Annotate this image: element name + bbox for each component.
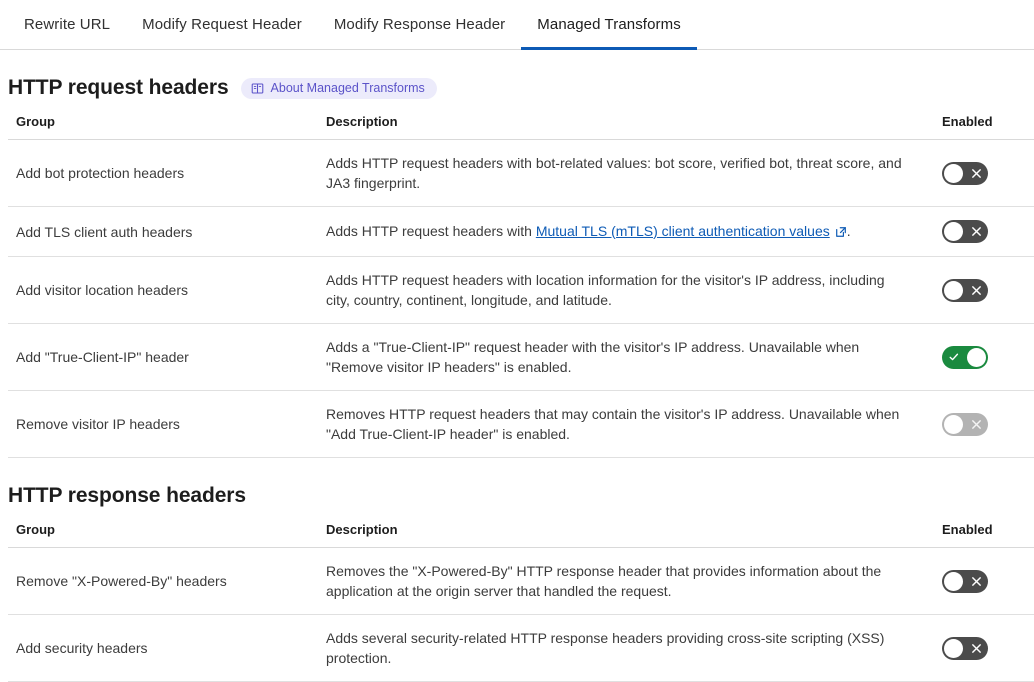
close-icon <box>971 220 982 243</box>
row-enabled-cell <box>930 207 1034 257</box>
toggle-remove-x-powered-by-headers[interactable] <box>942 570 988 593</box>
external-link-icon[interactable] <box>835 223 847 243</box>
tab-label: Modify Response Header <box>334 16 505 33</box>
tab-bar: Rewrite URL Modify Request Header Modify… <box>0 0 1034 50</box>
row-group-label: Remove visitor IP headers <box>8 391 326 458</box>
row-description-text: Removes HTTP request headers that may co… <box>326 404 910 444</box>
row-description: Removes the "X-Powered-By" HTTP response… <box>326 548 930 615</box>
book-icon <box>251 82 264 95</box>
row-description-text: Adds HTTP request headers with location … <box>326 270 910 310</box>
table-row: Add visitor location headers Adds HTTP r… <box>8 257 1034 324</box>
check-icon <box>948 346 960 369</box>
row-description: Adds a "True-Client-IP" request header w… <box>326 324 930 391</box>
tab-label: Rewrite URL <box>24 16 110 33</box>
close-icon <box>971 279 982 302</box>
response-section-title: HTTP response headers <box>8 484 246 508</box>
toggle-knob <box>944 572 963 591</box>
request-headers-table: Group Description Enabled Add bot protec… <box>8 114 1034 458</box>
toggle-knob <box>967 348 986 367</box>
toggle-add-tls-client-auth-headers[interactable] <box>942 220 988 243</box>
toggle-add-bot-protection-headers[interactable] <box>942 162 988 185</box>
close-icon <box>971 570 982 593</box>
row-description: Adds HTTP request headers with Mutual TL… <box>326 207 930 257</box>
page-title: HTTP request headers <box>8 76 229 100</box>
row-description-text: Adds HTTP request headers with Mutual TL… <box>326 221 910 243</box>
row-description-text: Adds HTTP request headers with bot-relat… <box>326 153 910 193</box>
toggle-add-visitor-location-headers[interactable] <box>942 279 988 302</box>
link-label: Mutual TLS (mTLS) client authentication … <box>536 223 830 239</box>
toggle-knob <box>944 222 963 241</box>
column-header-group: Group <box>8 522 326 548</box>
row-enabled-cell <box>930 615 1034 682</box>
table-header-row: Group Description Enabled <box>8 522 1034 548</box>
table-header-row: Group Description Enabled <box>8 114 1034 140</box>
row-enabled-cell <box>930 324 1034 391</box>
tab-rewrite-url[interactable]: Rewrite URL <box>8 0 126 49</box>
table-row: Add bot protection headers Adds HTTP req… <box>8 140 1034 207</box>
row-description-text: Removes the "X-Powered-By" HTTP response… <box>326 561 910 601</box>
close-icon <box>971 413 982 436</box>
row-group-label: Add visitor location headers <box>8 257 326 324</box>
toggle-knob <box>944 415 963 434</box>
row-group-label: Remove "X-Powered-By" headers <box>8 548 326 615</box>
response-headers-table: Group Description Enabled Remove "X-Powe… <box>8 522 1034 682</box>
column-header-description: Description <box>326 522 930 548</box>
close-icon <box>971 162 982 185</box>
column-header-description: Description <box>326 114 930 140</box>
about-managed-transforms-chip[interactable]: About Managed Transforms <box>241 78 437 99</box>
table-row: Add "True-Client-IP" header Adds a "True… <box>8 324 1034 391</box>
response-section-header: HTTP response headers <box>8 484 1026 508</box>
row-group-label: Add security headers <box>8 615 326 682</box>
request-section-header: HTTP request headers About Managed Trans… <box>8 76 1026 100</box>
row-group-label: Add TLS client auth headers <box>8 207 326 257</box>
toggle-knob <box>944 639 963 658</box>
table-row: Add security headers Adds several securi… <box>8 615 1034 682</box>
row-enabled-cell <box>930 391 1034 458</box>
description-suffix: . <box>847 223 851 239</box>
row-description: Adds HTTP request headers with bot-relat… <box>326 140 930 207</box>
table-row: Remove "X-Powered-By" headers Removes th… <box>8 548 1034 615</box>
row-enabled-cell <box>930 257 1034 324</box>
table-row: Remove visitor IP headers Removes HTTP r… <box>8 391 1034 458</box>
row-description: Adds HTTP request headers with location … <box>326 257 930 324</box>
toggle-add-security-headers[interactable] <box>942 637 988 660</box>
row-description: Adds several security-related HTTP respo… <box>326 615 930 682</box>
tab-modify-response-header[interactable]: Modify Response Header <box>318 0 521 49</box>
about-chip-label: About Managed Transforms <box>271 82 425 95</box>
row-description-text: Adds a "True-Client-IP" request header w… <box>326 337 910 377</box>
tab-label: Managed Transforms <box>537 16 681 33</box>
column-header-enabled: Enabled <box>930 522 1034 548</box>
toggle-knob <box>944 281 963 300</box>
page-content: HTTP request headers About Managed Trans… <box>0 76 1034 682</box>
row-description: Removes HTTP request headers that may co… <box>326 391 930 458</box>
close-icon <box>971 637 982 660</box>
row-group-label: Add "True-Client-IP" header <box>8 324 326 391</box>
description-prefix: Adds HTTP request headers with <box>326 223 536 239</box>
row-group-label: Add bot protection headers <box>8 140 326 207</box>
row-enabled-cell <box>930 140 1034 207</box>
column-header-enabled: Enabled <box>930 114 1034 140</box>
column-header-group: Group <box>8 114 326 140</box>
row-enabled-cell <box>930 548 1034 615</box>
toggle-remove-visitor-ip-headers <box>942 413 988 436</box>
tab-modify-request-header[interactable]: Modify Request Header <box>126 0 318 49</box>
toggle-knob <box>944 164 963 183</box>
toggle-add-true-client-ip-header[interactable] <box>942 346 988 369</box>
mtls-docs-link[interactable]: Mutual TLS (mTLS) client authentication … <box>536 223 830 239</box>
table-row: Add TLS client auth headers Adds HTTP re… <box>8 207 1034 257</box>
tab-label: Modify Request Header <box>142 16 302 33</box>
tab-managed-transforms[interactable]: Managed Transforms <box>521 0 697 49</box>
row-description-text: Adds several security-related HTTP respo… <box>326 628 910 668</box>
